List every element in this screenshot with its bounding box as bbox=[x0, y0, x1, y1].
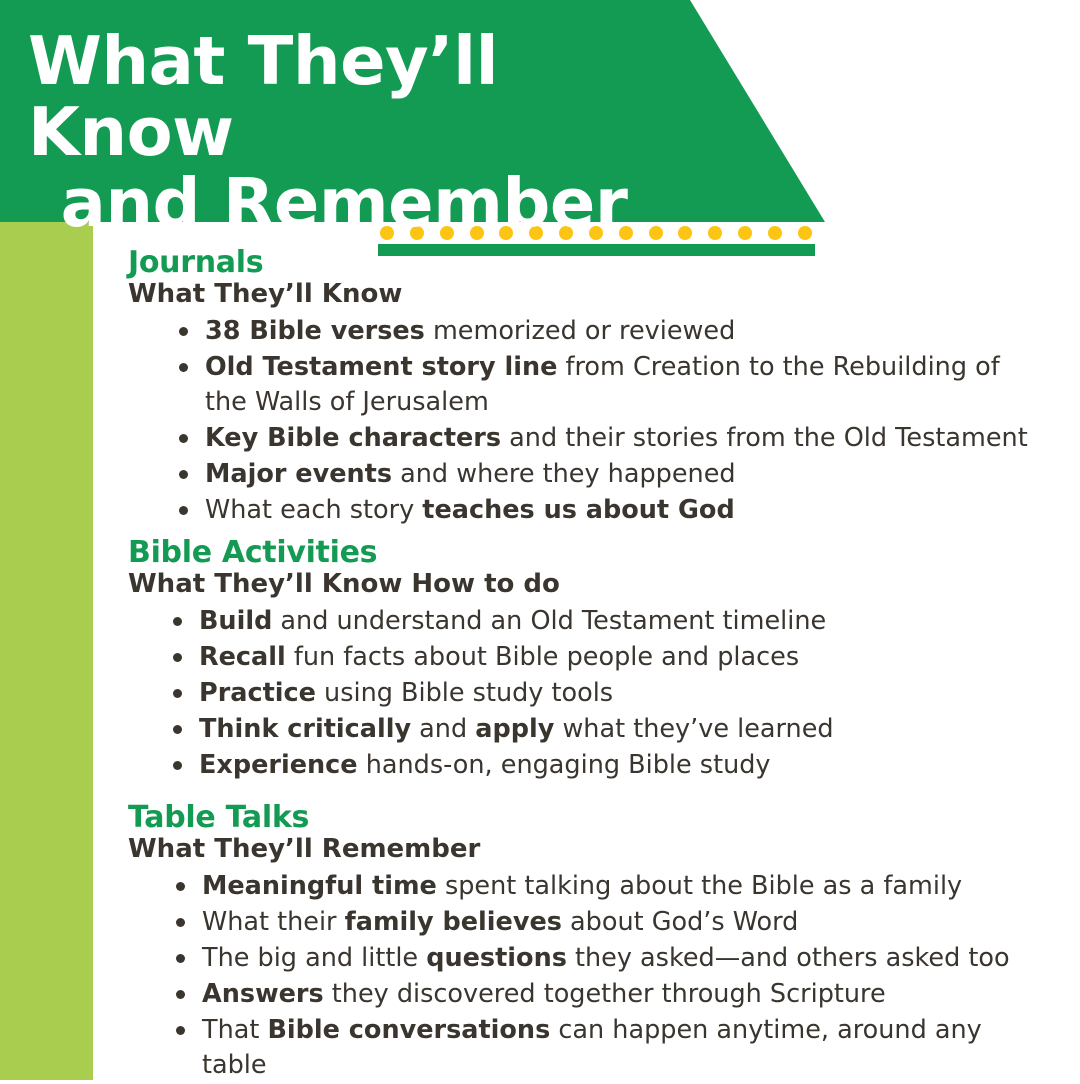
decorative-dot bbox=[768, 226, 782, 240]
list-item: Practice using Bible study tools bbox=[169, 676, 1048, 711]
page-title: What They’ll Know and Remember bbox=[28, 26, 688, 239]
page-title-line-2: and Remember bbox=[28, 168, 688, 239]
bullet-list: Meaningful time spent talking about the … bbox=[172, 869, 1048, 1083]
list-item: The big and little questions they asked—… bbox=[172, 941, 1048, 976]
list-item: Build and understand an Old Testament ti… bbox=[169, 604, 1048, 639]
section-journals: Journals What They’ll Know 38 Bible vers… bbox=[128, 248, 1048, 529]
list-item: Old Testament story line from Creation t… bbox=[175, 350, 1048, 420]
left-accent-stripe bbox=[0, 222, 93, 1080]
section-subtitle: What They’ll Know bbox=[128, 280, 1048, 308]
section-table-talks: Table Talks What They’ll Remember Meanin… bbox=[128, 803, 1048, 1084]
section-title: Bible Activities bbox=[128, 538, 1048, 568]
decorative-dot bbox=[738, 226, 752, 240]
divider-bar bbox=[378, 244, 815, 256]
list-item: Experience hands-on, engaging Bible stud… bbox=[169, 748, 1048, 783]
section-subtitle: What They’ll Remember bbox=[128, 835, 1048, 863]
list-item: Answers they discovered together through… bbox=[172, 977, 1048, 1012]
list-item: Key Bible characters and their stories f… bbox=[175, 421, 1048, 456]
list-item: Major events and where they happened bbox=[175, 457, 1048, 492]
list-item: 38 Bible verses memorized or reviewed bbox=[175, 314, 1048, 349]
list-item: That Bible conversations can happen anyt… bbox=[172, 1013, 1048, 1083]
list-item: What each story teaches us about God bbox=[175, 493, 1048, 528]
bullet-list: Build and understand an Old Testament ti… bbox=[169, 604, 1048, 783]
decorative-dot bbox=[708, 226, 722, 240]
list-item: Recall fun facts about Bible people and … bbox=[169, 640, 1048, 675]
decorative-dot bbox=[798, 226, 812, 240]
section-bible-activities: Bible Activities What They’ll Know How t… bbox=[128, 538, 1048, 784]
page-title-line-1: What They’ll Know bbox=[28, 26, 688, 168]
section-subtitle: What They’ll Know How to do bbox=[128, 570, 1048, 598]
list-item: What their family believes about God’s W… bbox=[172, 905, 1048, 940]
bullet-list: 38 Bible verses memorized or reviewedOld… bbox=[175, 314, 1048, 528]
list-item: Meaningful time spent talking about the … bbox=[172, 869, 1048, 904]
section-title: Table Talks bbox=[128, 803, 1048, 833]
list-item: Think critically and apply what they’ve … bbox=[169, 712, 1048, 747]
